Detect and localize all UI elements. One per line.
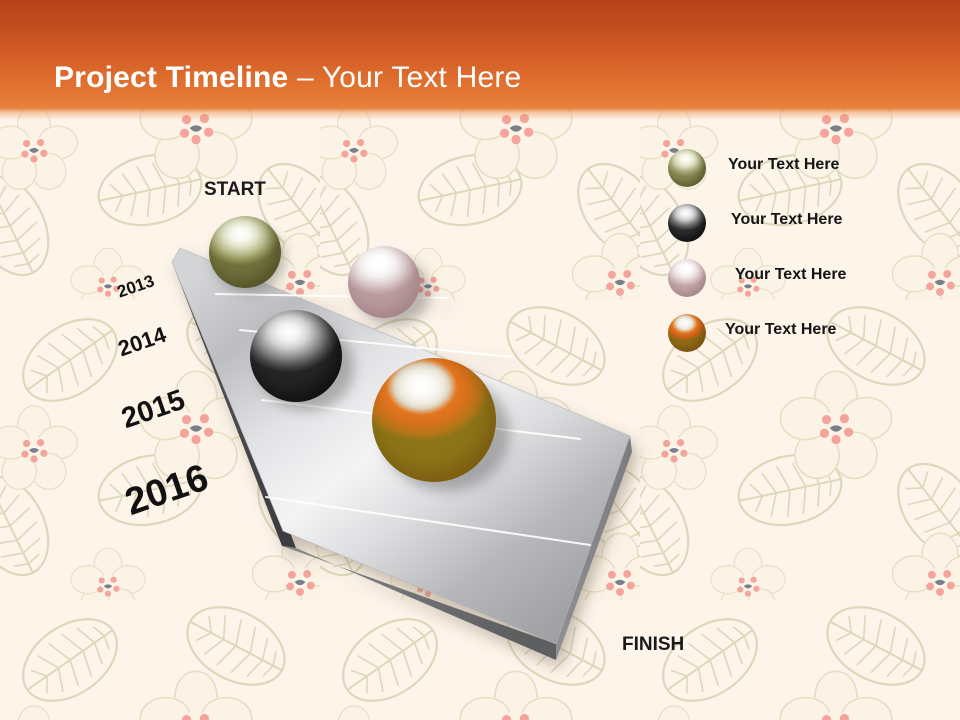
legend-item-label: Your Text Here <box>728 156 839 174</box>
legend-sphere-icon <box>668 149 706 187</box>
legend-item[interactable]: Your Text Here <box>668 256 948 311</box>
header-bar <box>0 0 960 112</box>
milestone-sphere-2013[interactable] <box>209 216 281 288</box>
legend-item[interactable]: Your Text Here <box>668 146 948 201</box>
legend-item-label: Your Text Here <box>735 266 846 284</box>
legend-item[interactable]: Your Text Here <box>668 201 948 256</box>
legend-item-label: Your Text Here <box>731 211 842 229</box>
page-title-light: – Your Text Here <box>297 61 521 94</box>
legend-item-label: Your Text Here <box>725 321 836 339</box>
milestone-sphere-2016[interactable] <box>372 358 496 482</box>
start-label: START <box>204 179 266 201</box>
legend-sphere-icon <box>668 204 706 242</box>
legend: Your Text Here Your Text Here Your Text … <box>668 146 948 366</box>
finish-label: FINISH <box>622 634 684 656</box>
slide-canvas: Project Timeline – Your Text Here <box>0 0 960 720</box>
page-title-strong: Project Timeline <box>54 61 288 94</box>
page-title: Project Timeline – Your Text Here <box>54 61 521 95</box>
legend-sphere-icon <box>668 259 706 297</box>
legend-item[interactable]: Your Text Here <box>668 311 948 366</box>
legend-sphere-icon <box>668 314 706 352</box>
milestone-sphere-2014[interactable] <box>348 246 420 318</box>
milestone-sphere-2015[interactable] <box>250 310 342 402</box>
